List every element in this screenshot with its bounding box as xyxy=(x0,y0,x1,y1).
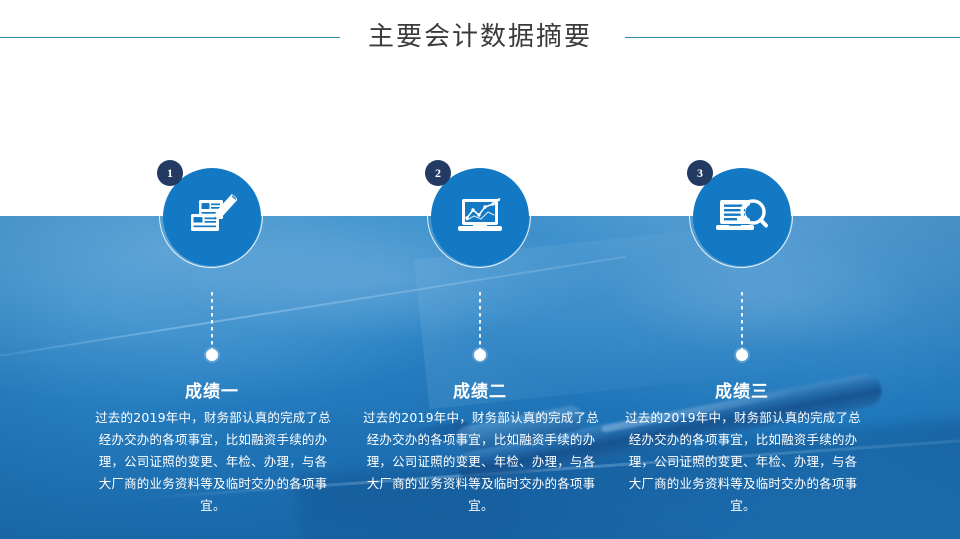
check-document-pen-icon xyxy=(187,194,237,240)
item-1-connector-line xyxy=(211,292,213,350)
items-container: 1 成绩一 过去的2019年中，财务部认真的完成了总经办交办的各项事宜，比如融资… xyxy=(0,0,960,539)
item-2-heading: 成绩二 xyxy=(350,381,610,403)
item-3-number-badge: 3 xyxy=(687,160,713,186)
item-3-connector-line xyxy=(741,292,743,350)
item-3-body-text: 过去的2019年中，财务部认真的完成了总经办交办的各项事宜，比如融资手续的办理，… xyxy=(624,407,862,517)
laptop-magnifier-icon xyxy=(715,195,769,239)
item-3-node-dot xyxy=(736,349,748,361)
item-2-number-badge: 2 xyxy=(425,160,451,186)
item-2-node-dot xyxy=(474,349,486,361)
item-2-body-text: 过去的2019年中，财务部认真的完成了总经办交办的各项事宜，比如融资手续的办理，… xyxy=(362,407,600,517)
item-2-connector-line xyxy=(479,292,481,350)
item-3-icon-circle[interactable]: 3 xyxy=(693,168,791,266)
laptop-line-chart-icon xyxy=(454,195,506,239)
item-1-number-badge: 1 xyxy=(157,160,183,186)
item-3-heading: 成绩三 xyxy=(612,381,872,403)
slide: 主要会计数据摘要 xyxy=(0,0,960,539)
item-1-node-dot xyxy=(206,349,218,361)
item-1-body-text: 过去的2019年中，财务部认真的完成了总经办交办的各项事宜，比如融资手续的办理，… xyxy=(94,407,332,517)
item-2-icon-circle[interactable]: 2 xyxy=(431,168,529,266)
item-1-icon-circle[interactable]: 1 xyxy=(163,168,261,266)
item-1-heading: 成绩一 xyxy=(82,381,342,403)
